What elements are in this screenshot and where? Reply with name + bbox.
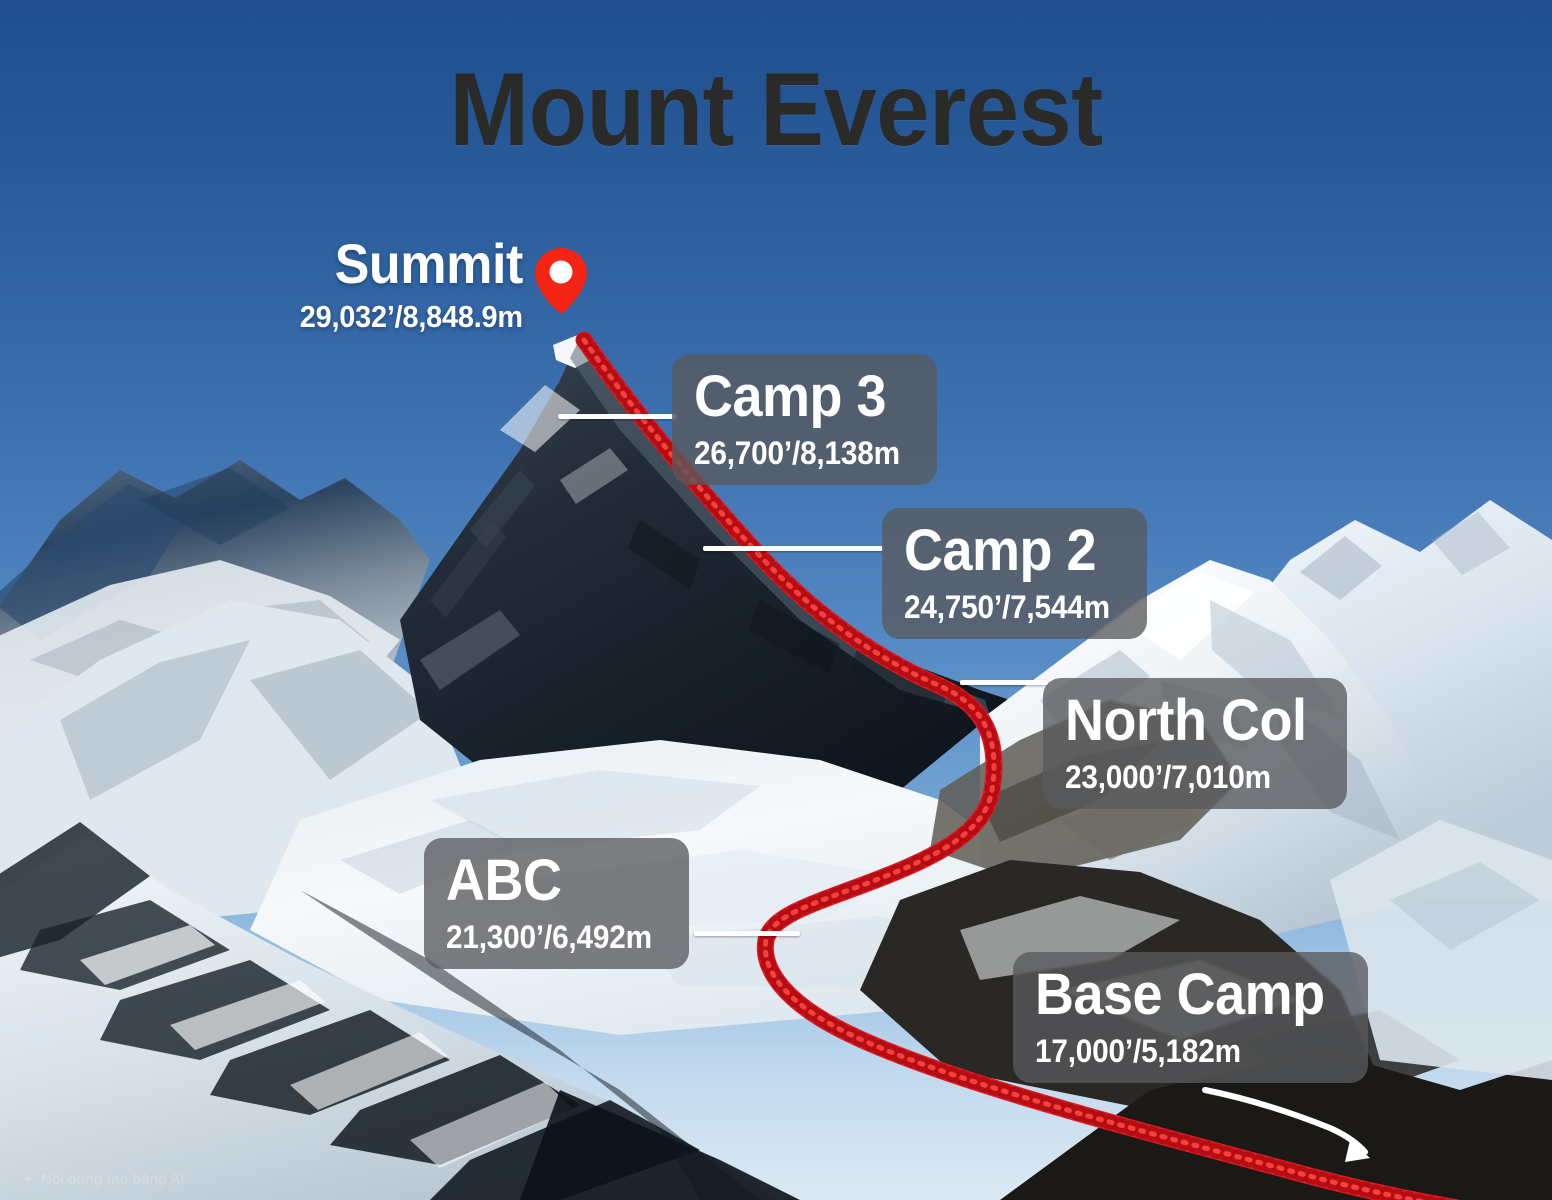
leader-line-northcol [960, 680, 1048, 685]
leader-line-camp2 [703, 546, 883, 551]
sparkle-icon: ✦ [22, 1172, 35, 1187]
marker-label-summit[interactable]: Summit 29,032’/8,848.9m [283, 236, 523, 332]
marker-name-northcol: North Col [1065, 692, 1306, 750]
ai-watermark: ✦ Nội dung tạo bằng AI [22, 1171, 185, 1188]
marker-elevation-camp3: 26,700’/8,138m [694, 437, 900, 469]
marker-name-camp3: Camp 3 [694, 368, 900, 426]
marker-label-northcol[interactable]: North Col 23,000’/7,010m [1043, 678, 1347, 809]
page-title: Mount Everest [62, 58, 1490, 162]
marker-elevation-northcol: 23,000’/7,010m [1065, 761, 1306, 793]
marker-elevation-summit: 29,032’/8,848.9m [300, 301, 523, 332]
marker-elevation-abc: 21,300’/6,492m [446, 921, 652, 953]
leader-line-abc [694, 931, 800, 936]
marker-label-abc[interactable]: ABC 21,300’/6,492m [424, 838, 689, 969]
marker-elevation-basecamp: 17,000’/5,182m [1035, 1035, 1325, 1067]
leader-line-camp3 [558, 414, 676, 419]
marker-label-basecamp[interactable]: Base Camp 17,000’/5,182m [1013, 952, 1368, 1083]
marker-name-camp2: Camp 2 [904, 522, 1110, 580]
marker-label-camp3[interactable]: Camp 3 26,700’/8,138m [672, 354, 937, 485]
marker-label-camp2[interactable]: Camp 2 24,750’/7,544m [882, 508, 1147, 639]
marker-elevation-camp2: 24,750’/7,544m [904, 591, 1110, 623]
marker-name-basecamp: Base Camp [1035, 966, 1325, 1024]
marker-name-summit: Summit [300, 236, 523, 292]
watermark-text: Nội dung tạo bằng AI [41, 1171, 185, 1188]
map-pin-icon[interactable] [533, 246, 589, 316]
infographic-canvas: Mount Everest Summit 29,032’/8,848.9m Ca… [0, 0, 1552, 1200]
marker-name-abc: ABC [446, 852, 652, 910]
